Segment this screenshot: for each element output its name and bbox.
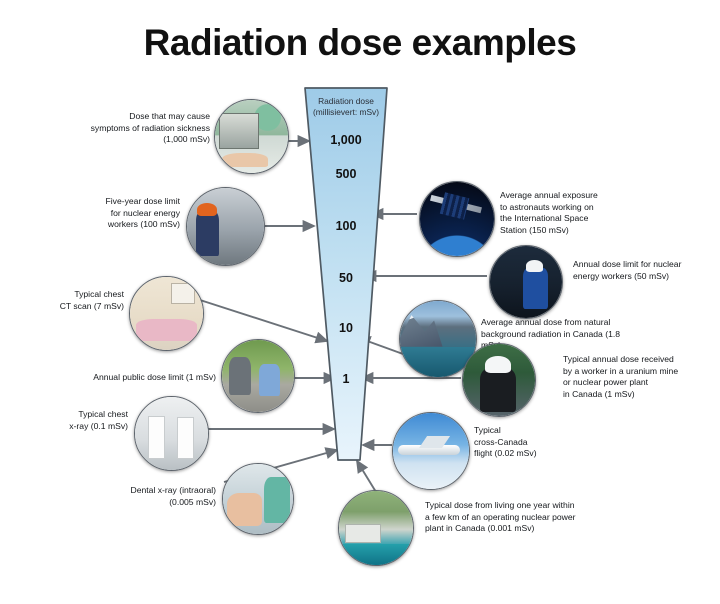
photo-scene-uranium-worker — [463, 344, 535, 416]
photo-iss-astronauts — [419, 181, 495, 257]
photo-radiation-sickness — [214, 99, 289, 174]
caption-line: CT scan (7 mSv) — [48, 301, 124, 313]
caption-line: x-ray (0.1 mSv) — [52, 421, 128, 433]
photo-scene-radiation-sickness — [215, 100, 288, 173]
scale-tick-50: 50 — [296, 271, 396, 285]
caption-line: flight (0.02 mSv) — [474, 448, 558, 460]
photo-scene-dental-xray — [223, 464, 293, 534]
photo-five-year-limit — [186, 187, 265, 266]
caption-iss-astronauts: Average annual exposureto astronauts wor… — [500, 190, 616, 236]
funnel-caption: Radiation dose (millisievert: mSv) — [300, 96, 392, 118]
caption-line: to astronauts working on — [500, 202, 616, 214]
caption-line: Average annual exposure — [500, 190, 616, 202]
caption-line: Typical — [474, 425, 558, 437]
scale-tick-500: 500 — [296, 167, 396, 181]
caption-annual-nuclear-limit: Annual dose limit for nuclearenergy work… — [573, 259, 707, 282]
caption-line: Typical annual dose received — [563, 354, 695, 366]
photo-scene-living-near-plant — [339, 491, 413, 565]
caption-line: a few km of an operating nuclear power — [425, 512, 609, 524]
caption-line: the International Space — [500, 213, 616, 225]
caption-line: by a worker in a uranium mine — [563, 366, 695, 378]
photo-scene-cross-canada-flight — [393, 413, 469, 489]
photo-scene-iss-astronauts — [420, 182, 494, 256]
caption-line: Dose that may cause — [58, 111, 210, 123]
caption-line: Annual public dose limit (1 mSv) — [80, 372, 216, 384]
caption-line: symptoms of radiation sickness — [58, 123, 210, 135]
caption-line: workers (100 mSv) — [52, 219, 180, 231]
photo-annual-nuclear-limit — [489, 245, 563, 319]
scale-tick-10: 10 — [296, 321, 396, 335]
caption-line: (1,000 mSv) — [58, 134, 210, 146]
funnel-caption-line1: Radiation dose — [300, 96, 392, 107]
caption-living-near-plant: Typical dose from living one year within… — [425, 500, 609, 535]
scale-tick-1: 1 — [296, 372, 396, 386]
photo-scene-chest-ct — [130, 277, 203, 350]
caption-line: Typical chest — [52, 409, 128, 421]
caption-line: Five-year dose limit — [52, 196, 180, 208]
funnel-caption-line2: (millisievert: mSv) — [300, 107, 392, 118]
caption-line: or nuclear power plant — [563, 377, 695, 389]
photo-chest-xray — [134, 396, 209, 471]
caption-dental-xray: Dental x-ray (intraoral)(0.005 mSv) — [110, 485, 216, 508]
scale-tick-100: 100 — [296, 219, 396, 233]
photo-scene-five-year-limit — [187, 188, 264, 265]
caption-line: plant in Canada (0.001 mSv) — [425, 523, 609, 535]
photo-dental-xray — [222, 463, 294, 535]
caption-line: energy workers (50 mSv) — [573, 271, 707, 283]
caption-radiation-sickness: Dose that may causesymptoms of radiation… — [58, 111, 210, 146]
caption-cross-canada-flight: Typicalcross-Canadaflight (0.02 mSv) — [474, 425, 558, 460]
caption-annual-public-limit: Annual public dose limit (1 mSv) — [80, 372, 216, 384]
photo-uranium-worker — [462, 343, 536, 417]
caption-line: in Canada (1 mSv) — [563, 389, 695, 401]
photo-cross-canada-flight — [392, 412, 470, 490]
caption-chest-xray: Typical chestx-ray (0.1 mSv) — [52, 409, 128, 432]
caption-line: cross-Canada — [474, 437, 558, 449]
caption-line: Typical dose from living one year within — [425, 500, 609, 512]
caption-line: Average annual dose from natural — [481, 317, 633, 329]
caption-line: Typical chest — [48, 289, 124, 301]
photo-scene-chest-xray — [135, 397, 208, 470]
scale-tick-1000: 1,000 — [296, 133, 396, 147]
caption-five-year-limit: Five-year dose limitfor nuclear energywo… — [52, 196, 180, 231]
caption-line: Dental x-ray (intraoral) — [110, 485, 216, 497]
photo-chest-ct — [129, 276, 204, 351]
caption-line: Annual dose limit for nuclear — [573, 259, 707, 271]
photo-annual-public-limit — [221, 339, 295, 413]
caption-uranium-worker: Typical annual dose receivedby a worker … — [563, 354, 695, 400]
infographic-root: Radiation dose examples Radiation dose (… — [0, 0, 720, 604]
photo-scene-annual-public-limit — [222, 340, 294, 412]
caption-chest-ct: Typical chestCT scan (7 mSv) — [48, 289, 124, 312]
photo-scene-annual-nuclear-limit — [490, 246, 562, 318]
photo-living-near-plant — [338, 490, 414, 566]
caption-line: (0.005 mSv) — [110, 497, 216, 509]
caption-line: Station (150 mSv) — [500, 225, 616, 237]
caption-line: for nuclear energy — [52, 208, 180, 220]
